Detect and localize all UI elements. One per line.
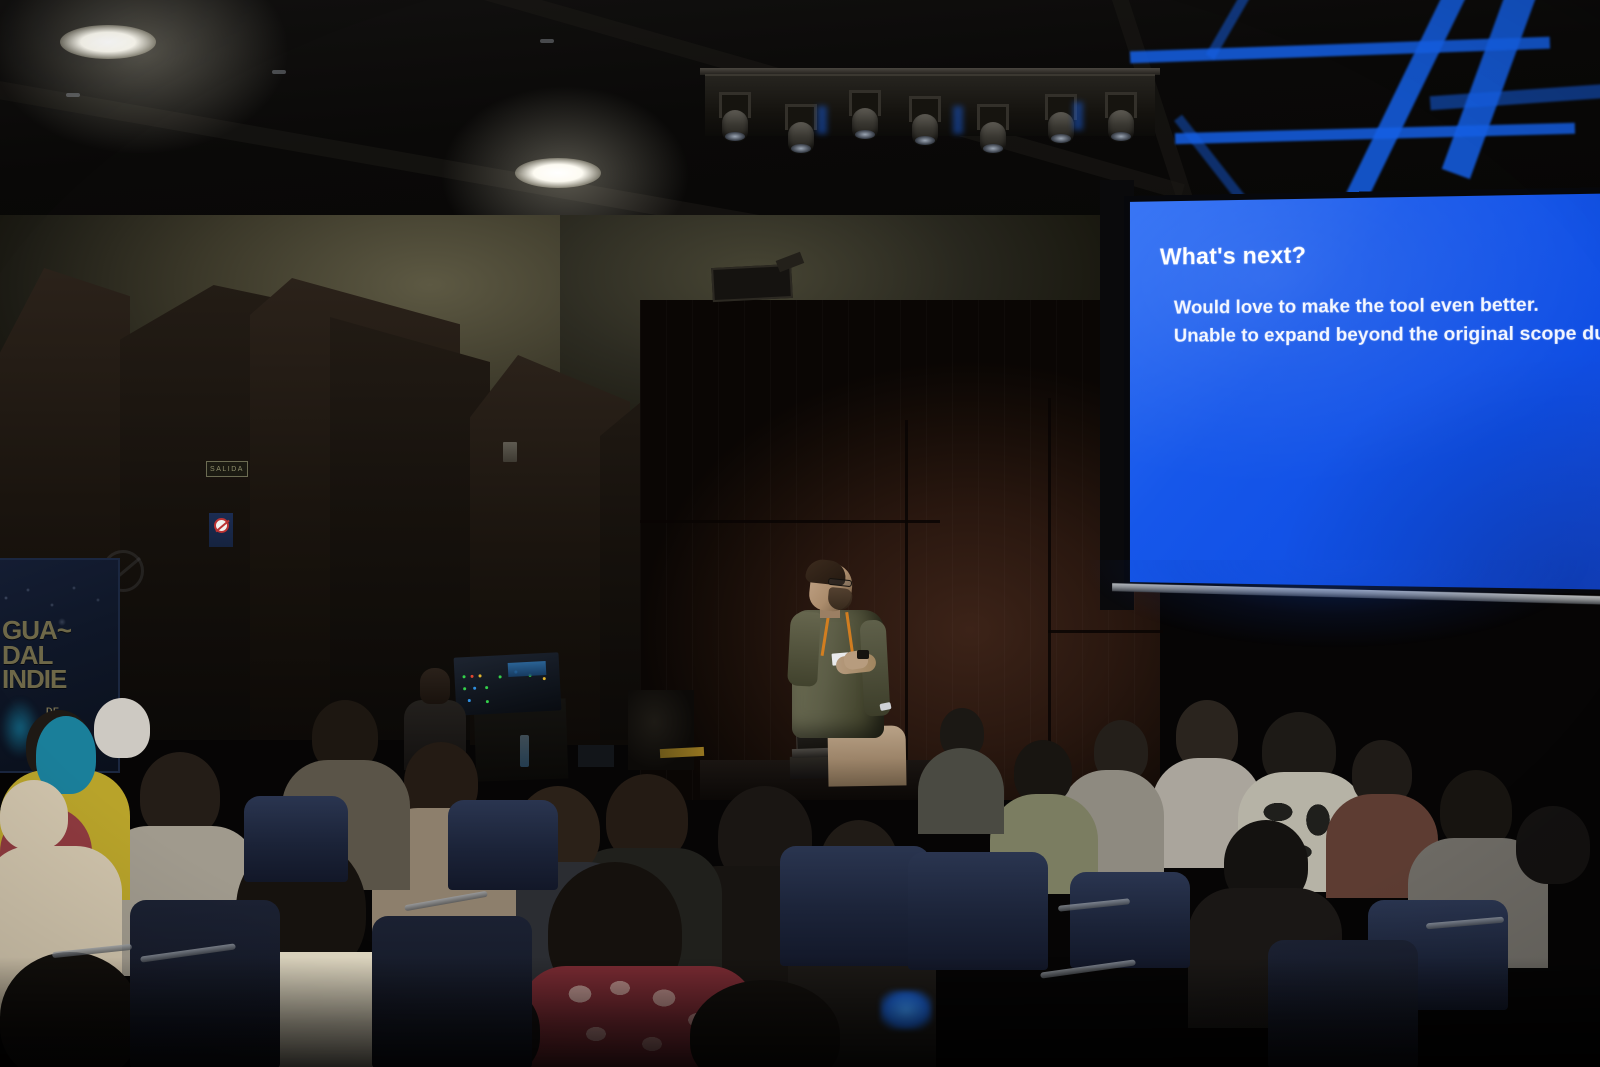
ceiling-fixture-icon xyxy=(66,93,80,97)
slide-line-1: Would love to make the tool even better. xyxy=(1174,289,1600,321)
wood-seam xyxy=(905,420,908,780)
mixer-display xyxy=(508,661,547,677)
ceiling-fixture-icon xyxy=(540,39,554,43)
wood-panel-wall xyxy=(640,300,1160,800)
wall-speaker xyxy=(711,264,793,302)
stage-light-icon xyxy=(975,104,1011,156)
wall-switch-plate[interactable] xyxy=(503,442,517,462)
wood-seam xyxy=(640,520,940,523)
theater-chair xyxy=(1268,940,1418,1067)
theater-chair xyxy=(372,916,532,1067)
no-smoking-icon xyxy=(209,513,233,547)
wood-seam xyxy=(1048,398,1051,778)
screen-frame: What's next? Would love to make the tool… xyxy=(1124,187,1600,594)
audience-body xyxy=(918,748,1004,834)
stage-light-icon xyxy=(783,104,819,156)
slide-title: What's next? xyxy=(1160,241,1306,270)
theater-chair xyxy=(244,796,348,882)
stage-light-icon xyxy=(847,90,883,142)
slide-line-2: Unable to expand beyond the original sco… xyxy=(1174,319,1600,350)
wood-seam xyxy=(1048,630,1163,633)
theater-chair xyxy=(130,900,280,1067)
banner-logo-line-3: INDIE xyxy=(2,667,114,692)
ceiling-fixture-icon xyxy=(272,70,286,74)
auditorium-photo: SALIDA What's next? Would love to make t… xyxy=(0,0,1600,1067)
projection-screen: What's next? Would love to make the tool… xyxy=(1124,187,1600,617)
speaker-left-arm xyxy=(787,611,821,686)
theater-chair xyxy=(448,800,558,890)
banner-logo-line-1: GUA~ xyxy=(2,618,114,643)
stage-light-icon xyxy=(907,96,943,148)
stage-light-icon xyxy=(717,92,753,144)
slide-surface: What's next? Would love to make the tool… xyxy=(1130,193,1600,590)
presenter-clicker[interactable] xyxy=(857,650,869,659)
water-bottle xyxy=(520,735,529,767)
theater-chair xyxy=(908,852,1048,970)
audience-head xyxy=(0,780,68,850)
slide-body: Would love to make the tool even better.… xyxy=(1174,289,1600,350)
audience-head xyxy=(1516,806,1590,884)
av-technician-head xyxy=(420,668,450,704)
av-box xyxy=(578,745,614,767)
exit-sign: SALIDA xyxy=(206,461,248,477)
ceiling-light-icon xyxy=(515,158,601,188)
ceiling-light-icon xyxy=(60,25,156,59)
phone-screen-glow xyxy=(880,990,932,1030)
stage-light-icon xyxy=(1103,92,1139,144)
theater-chair xyxy=(1070,872,1190,968)
lighting-truss xyxy=(705,74,1155,136)
banner-logo: GUA~ DAL INDIE xyxy=(2,618,114,692)
audience-head-white-hair xyxy=(94,698,150,758)
